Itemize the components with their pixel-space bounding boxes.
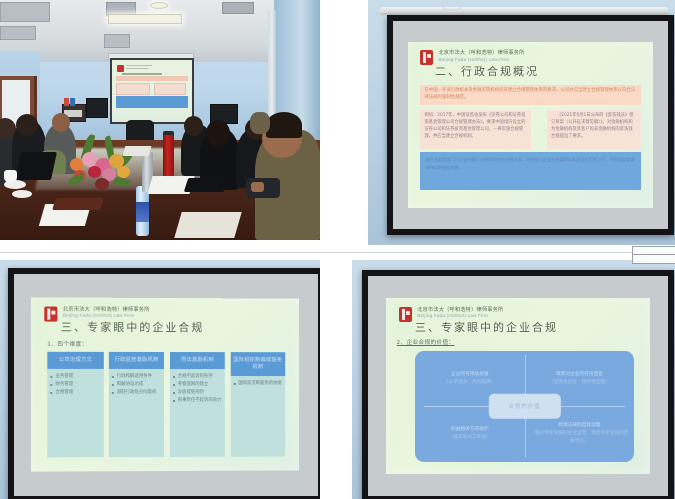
ceiling-light	[108, 14, 182, 24]
list-item: 合规管理	[51, 389, 101, 397]
projected-slide-2-photo: 北京市法大（呼和浩特）律师事务所 Beijing Fada (Hohhot) L…	[368, 0, 675, 245]
slide-text-box	[116, 83, 150, 95]
column-body: 国际反垄断豁免的依据	[231, 376, 286, 392]
compliance-value-matrix: 企业的可持续发展 （公平竞争、风险隔离） 政府对企业的有效监管 （监管性监管 预…	[415, 351, 634, 462]
roller-cord	[440, 0, 464, 10]
example-box-right: 《2021年6月1日公布的《反洗钱法》修订草案（公开征求意见稿）》，对金融机构和…	[547, 110, 641, 149]
slide-blue-band	[116, 96, 188, 108]
slide-orange-band	[116, 76, 188, 81]
firm-logo-icon	[45, 307, 58, 322]
quadrant-line2: （相对特定领域的企业运营、承担特定领域的社会责任）	[530, 430, 630, 446]
projected-slide-3-columns-photo: 北京市法大（呼和浩特）律师事务所 Beijing Fada (Hohhot) L…	[0, 260, 320, 499]
attendee-hair	[266, 112, 302, 138]
firm-name-cn: 北京市法大（呼和浩特）律师事务所	[438, 50, 524, 57]
quadrant-line1: 跨境法律的自我治理	[558, 422, 600, 430]
teacup	[4, 170, 17, 183]
column-body: 行政和解适用条件 和解协议达成 减轻行政处分同意权	[109, 369, 165, 402]
collage-divider	[0, 252, 675, 253]
firm-name-block: 北京市法大（呼和浩特）律师事务所 Beijing Fada (Hohhot) L…	[438, 50, 524, 62]
list-item: 国际反垄断豁免的依据	[234, 380, 283, 388]
loudspeaker	[86, 98, 108, 118]
example-box-left: 例如：2017年，中国证监会发布《证券公司和证券投资基金管理公司合规管理办法》，…	[420, 110, 531, 149]
slide-title: 三、专家眼中的企业合规	[415, 319, 558, 335]
dimension-column: 行政监管激励机制 行政和解适用条件 和解协议达成 减轻行政处分同意权	[109, 352, 165, 458]
quadrant-line1: 利益相关方的保护	[451, 426, 489, 434]
screen-surface: 北京市法大（呼和浩特）律师事务所 Beijing Fada (Hohhot) L…	[368, 276, 668, 496]
attendee-head	[206, 120, 230, 146]
screen-frame: 北京市法大（呼和浩特）律师事务所 Beijing Fada (Hohhot) L…	[387, 15, 674, 235]
photo-collage: 北京市法大（呼和浩特）律师事务所 Beijing Fada (Hohhot) L…	[0, 0, 675, 499]
attendee-head	[16, 114, 38, 136]
ceiling-tile	[0, 26, 36, 40]
blue-box	[70, 98, 75, 106]
attendee-hand	[251, 182, 264, 192]
quadrant-line1: 企业的可持续发展	[451, 371, 489, 379]
slide-title: 三、专家眼中的企业合规	[61, 319, 204, 335]
slide-subtitle: 2、企业合规的价值：	[397, 338, 455, 346]
quadrant-line2: （监管性监管 预防性监管）	[549, 379, 610, 387]
laptop	[184, 178, 229, 192]
dimension-column: 刑法激励机制 合规不起诉的条件 考察监网的建立 没收或免刑罚 刑事责任不起诉的效…	[170, 352, 225, 458]
attendee-head	[52, 113, 70, 132]
firm-logo-icon	[117, 65, 124, 72]
quadrant-line2: （公平竞争、风险隔离）	[444, 379, 496, 387]
four-dimension-columns: 公司治理方式 业务管理 财务管理 合规管理 行政监管激励机制	[48, 352, 286, 458]
quadrant-line1: 政府对企业的有效监管	[556, 371, 603, 379]
slide-subtitle: 1、四个维度：	[48, 340, 88, 348]
screen-frame: 北京市法大（呼和浩特）律师事务所 Beijing Fada (Hohhot) L…	[8, 268, 320, 499]
firm-logo-icon	[399, 307, 412, 322]
screen-surface	[112, 60, 192, 122]
document	[123, 146, 152, 156]
column-header: 刑法激励机制	[170, 352, 225, 369]
slide-text-box	[154, 83, 186, 95]
ceiling-vent	[222, 2, 254, 14]
red-box	[64, 98, 69, 106]
dimension-column: 国际组织制裁或豁免机制 国际反垄断豁免的依据	[231, 352, 286, 457]
laptop	[15, 152, 57, 180]
red-thermos	[163, 135, 174, 181]
highlight-band-text: 在中国，许多行政机关及金融监管机构均有建立合规管理体系的要求，公司亦应当建立合规…	[420, 85, 640, 104]
slide-2: 北京市法大（呼和浩特）律师事务所 Beijing Fada (Hohhot) L…	[408, 42, 653, 208]
projected-slide-3-quadrants-photo: 北京市法大（呼和浩特）律师事务所 Beijing Fada (Hohhot) L…	[352, 260, 675, 499]
meeting-room-photo	[0, 0, 320, 240]
dimension-column: 公司治理方式 业务管理 财务管理 合规管理	[48, 352, 104, 458]
ui-overlay-artifact	[632, 246, 675, 264]
highlight-band: 在中国，许多行政机关及金融监管机构均有建立合规管理体系的要求，公司亦应当建立合规…	[420, 85, 640, 105]
screen-surface: 北京市法大（呼和浩特）律师事务所 Beijing Fada (Hohhot) L…	[14, 274, 318, 496]
attendee-head	[184, 116, 203, 136]
list-item: 减轻行政处分同意权	[112, 389, 162, 397]
column-body: 合规不起诉的条件 考察监网的建立 没收或免刑罚 刑事责任不起诉的效力	[170, 369, 225, 410]
screen-frame: 北京市法大（呼和浩特）律师事务所 Beijing Fada (Hohhot) L…	[362, 270, 674, 499]
firm-name-block: 北京市法大（呼和浩特）律师事务所 Beijing Fada (Hohhot) L…	[417, 307, 503, 319]
column-body: 业务管理 财务管理 合规管理	[48, 369, 104, 402]
firm-name-en: Beijing Fada (Hohhot) Law Firm	[438, 57, 524, 63]
screen-roller-case	[380, 7, 668, 15]
ceiling-tile	[104, 34, 130, 48]
document	[174, 212, 241, 238]
ceiling-spotlight	[150, 2, 168, 9]
screen-surface: 北京市法大（呼和浩特）律师事务所 Beijing Fada (Hohhot) L…	[393, 21, 668, 229]
attendee-background	[250, 112, 270, 134]
firm-logo-icon	[420, 50, 433, 65]
slide-title: 二、行政合规概况	[435, 63, 539, 79]
leather-folder	[52, 198, 104, 210]
firm-name-block: 北京市法大（呼和浩特）律师事务所 Beijing Fada (Hohhot) L…	[63, 307, 150, 320]
matrix-center-label: 合规的价值	[488, 394, 560, 418]
saucer	[12, 190, 32, 198]
list-item: 刑事责任不起诉的效力	[173, 397, 222, 405]
quadrant-line2: （股东和员工利益）	[449, 434, 491, 442]
blue-summary-band: 各行业监管部门与企业所属行业密切相关的合规义务，均应纳入企业合规管理体系建设的范…	[420, 152, 640, 190]
projection-screen	[110, 58, 194, 124]
slide-3-columns: 北京市法大（呼和浩特）律师事务所 Beijing Fada (Hohhot) L…	[31, 298, 298, 472]
column-header: 国际组织制裁或豁免机制	[231, 352, 286, 376]
column-header: 公司治理方式	[48, 352, 104, 369]
slide-3-quadrants: 北京市法大（呼和浩特）律师事务所 Beijing Fada (Hohhot) L…	[386, 298, 650, 474]
column-header: 行政监管激励机制	[109, 352, 165, 369]
bottle-label	[136, 202, 149, 222]
ceiling-tile	[0, 2, 50, 22]
